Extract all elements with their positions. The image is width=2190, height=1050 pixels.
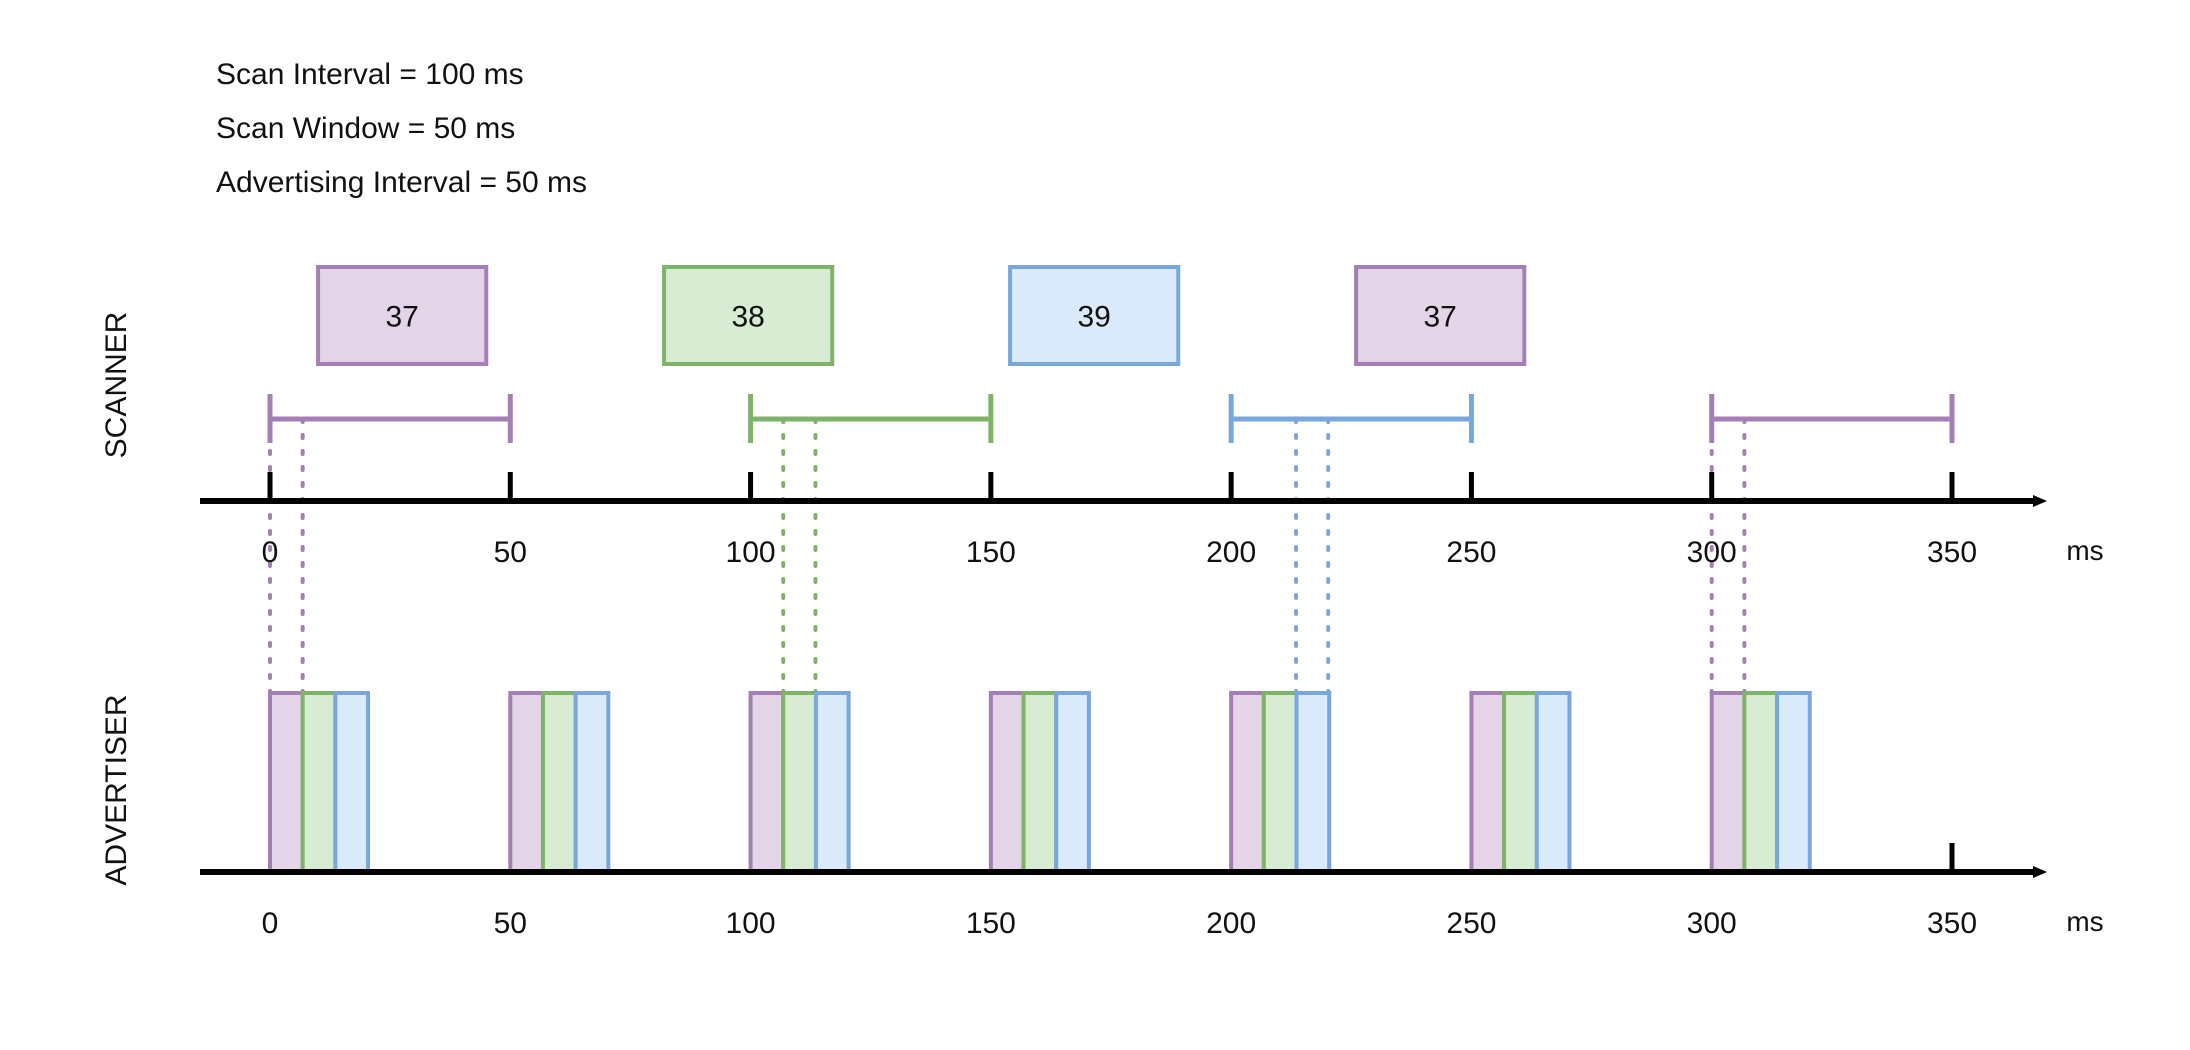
advertising-packet-rect: [991, 693, 1024, 872]
advertising-packet-rect: [751, 693, 784, 872]
advertising-event: [991, 693, 1089, 872]
advertiser-axis-tick-label: 300: [1687, 907, 1737, 940]
scanner-axis-tick-label: 150: [966, 536, 1016, 569]
advertising-event: [270, 693, 368, 872]
advertising-packet-rect: [1504, 693, 1537, 872]
advertiser-axis-tick-label: 150: [966, 907, 1016, 940]
scanner-time-axis: 050100150200250300350ms: [200, 472, 2104, 569]
diagram-canvas: Scan Interval = 100 ms Scan Window = 50 …: [0, 0, 2190, 1050]
advertising-packet-rect: [1744, 693, 1777, 872]
advertising-event: [510, 693, 608, 872]
advertising-event: [1471, 693, 1569, 872]
advertiser-axis-unit-label: ms: [2066, 906, 2103, 937]
advertising-packet-rect: [1297, 693, 1330, 872]
advertiser-row-label: ADVERTISER: [100, 694, 133, 885]
scanner-row: SCANNER 37383937 050100150200250300350ms: [100, 267, 2104, 693]
channel-box-label: 37: [1424, 301, 1457, 334]
scanner-axis-tick-label: 50: [494, 536, 527, 569]
timing-diagram-svg: SCANNER 37383937 050100150200250300350ms…: [0, 0, 2190, 1050]
advertising-packet-rect: [1024, 693, 1057, 872]
channel-box-label: 38: [731, 301, 764, 334]
advertiser-row: ADVERTISER 050100150200250300350ms: [100, 693, 2104, 940]
advertiser-axis-tick-label: 350: [1927, 907, 1977, 940]
advertising-packet-rect: [270, 693, 303, 872]
advertising-event: [751, 693, 849, 872]
scan-window-bracket: [1712, 394, 1952, 443]
scanner-axis-tick-label: 200: [1206, 536, 1256, 569]
channel-box-label: 37: [385, 301, 418, 334]
scanner-axis-tick-label: 300: [1687, 536, 1737, 569]
advertising-packet-rect: [1231, 693, 1264, 872]
scanner-axis-tick-label: 350: [1927, 536, 1977, 569]
advertiser-axis-tick-label: 100: [726, 907, 776, 940]
advertising-packet-rect: [1264, 693, 1297, 872]
advertising-packets: [270, 693, 1810, 872]
advertiser-axis-tick-label: 200: [1206, 907, 1256, 940]
advertising-packet-rect: [1537, 693, 1570, 872]
scan-channel-box: 39: [1010, 267, 1178, 364]
channel-box-label: 39: [1077, 301, 1110, 334]
advertiser-axis-tick-label: 0: [262, 907, 279, 940]
advertising-packet-rect: [1777, 693, 1810, 872]
advertising-packet-rect: [576, 693, 609, 872]
scanner-axis-tick-label: 250: [1446, 536, 1496, 569]
advertiser-axis-tick-label: 250: [1446, 907, 1496, 940]
advertising-packet-rect: [1471, 693, 1504, 872]
scanner-row-label: SCANNER: [100, 312, 133, 459]
scan-window-bracket: [751, 394, 991, 443]
advertising-event: [1231, 693, 1329, 872]
scan-channel-box: 37: [318, 267, 486, 364]
scanner-axis-unit-label: ms: [2066, 535, 2103, 566]
advertising-packet-rect: [783, 693, 816, 872]
advertising-packet-rect: [543, 693, 576, 872]
scan-channel-box: 37: [1356, 267, 1524, 364]
advertising-event: [1712, 693, 1810, 872]
scan-channel-boxes: 37383937: [318, 267, 1524, 364]
scanner-axis-tick-label: 100: [726, 536, 776, 569]
advertising-packet-rect: [303, 693, 336, 872]
scan-window-brackets: [270, 394, 1952, 443]
advertising-packet-rect: [1712, 693, 1745, 872]
advertiser-time-axis: 050100150200250300350ms: [200, 843, 2104, 940]
advertising-packet-rect: [816, 693, 849, 872]
scan-window-bracket: [270, 394, 510, 443]
advertising-packet-rect: [335, 693, 368, 872]
scanner-axis-tick-label: 0: [262, 536, 279, 569]
advertising-packet-rect: [1056, 693, 1089, 872]
advertiser-axis-tick-label: 50: [494, 907, 527, 940]
advertising-packet-rect: [510, 693, 543, 872]
scan-window-bracket: [1231, 394, 1471, 443]
scan-channel-box: 38: [664, 267, 832, 364]
